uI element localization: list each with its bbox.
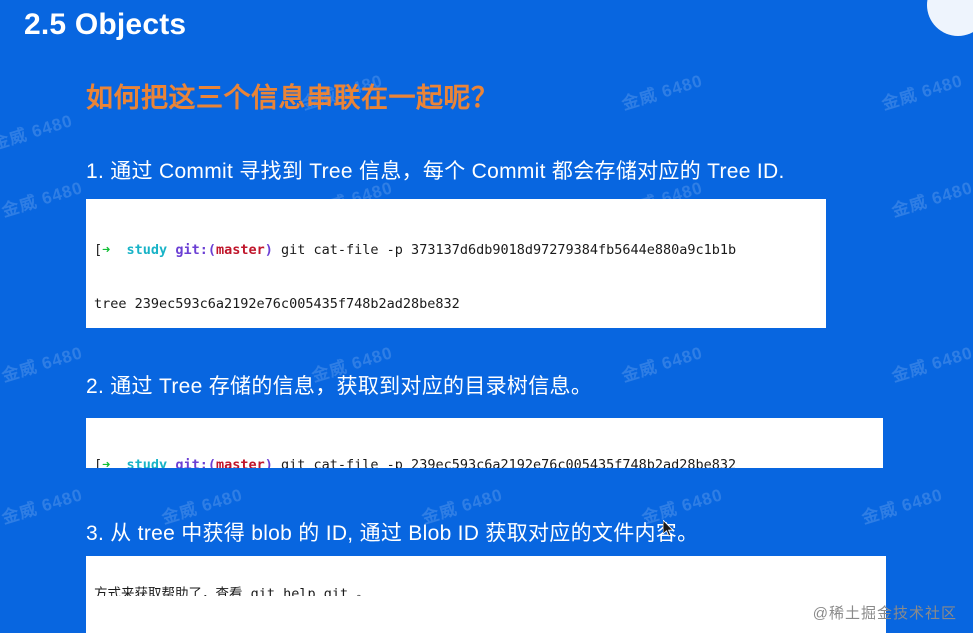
step-text-2: 2. 通过 Tree 存储的信息，获取到对应的目录树信息。 (86, 370, 592, 400)
watermark-tile: 金威 6480 (0, 173, 85, 221)
mouse-cursor-icon (663, 520, 675, 538)
site-watermark: @稀土掘金技术社区 (813, 602, 957, 623)
prompt-git-open: git:( (175, 242, 216, 258)
bracket-glyph: [ (94, 242, 102, 258)
watermark-tile: 金威 6480 (618, 338, 705, 386)
prompt-git-open: git:( (175, 457, 216, 468)
prompt-host: study (127, 242, 168, 258)
slide-canvas: 金威 6480 金威 6480 金威 6480 金威 6480 金威 6480 … (0, 0, 973, 633)
arrow-icon: ➜ (102, 457, 110, 468)
prompt-branch: master (216, 457, 265, 468)
page-title: 2.5 Objects (24, 8, 186, 42)
terminal-block-2: [➜ study git:(master) git cat-file -p 23… (86, 418, 883, 468)
step-text-3: 3. 从 tree 中获得 blob 的 ID, 通过 Blob ID 获取对应… (86, 517, 698, 547)
watermark-tile: 金威 6480 (0, 480, 85, 528)
watermark-tile: 金威 6480 (878, 66, 965, 114)
arrow-icon: ➜ (102, 242, 110, 258)
bracket-glyph: [ (94, 457, 102, 468)
terminal-block-1: [➜ study git:(master) git cat-file -p 37… (86, 199, 826, 328)
watermark-tile: 金威 6480 (0, 106, 75, 154)
decorative-corner-shape (927, 0, 973, 36)
prompt-host: study (127, 457, 168, 468)
prompt-git-close: ) (265, 457, 273, 468)
watermark-tile: 金威 6480 (858, 480, 945, 528)
terminal-clipped-line: 方式来获取帮助了，查看 git help git 。 (94, 585, 886, 596)
watermark-tile: 金威 6480 (0, 338, 85, 386)
watermark-tile: 金威 6480 (618, 66, 705, 114)
prompt-git-close: ) (265, 242, 273, 258)
terminal-output-line: tree 239ec593c6a2192e76c005435f748b2ad28… (94, 295, 826, 313)
watermark-tile: 金威 6480 (888, 173, 973, 221)
watermark-tile: 金威 6480 (888, 338, 973, 386)
terminal-prompt-line: [➜ study git:(master) git cat-file -p 23… (94, 456, 883, 468)
step-text-1: 1. 通过 Commit 寻找到 Tree 信息，每个 Commit 都会存储对… (86, 155, 785, 185)
terminal-command-2: git cat-file -p 239ec593c6a2192e76c00543… (273, 457, 736, 468)
prompt-branch: master (216, 242, 265, 258)
terminal-block-3: 方式来获取帮助了，查看 git help git 。 [➜ study git:… (86, 556, 886, 633)
terminal-prompt-line: [➜ study git:(master) git cat-file -p 37… (94, 241, 826, 259)
section-heading: 如何把这三个信息串联在一起呢？ (86, 76, 499, 115)
terminal-command-1: git cat-file -p 373137d6db9018d97279384f… (273, 242, 736, 258)
